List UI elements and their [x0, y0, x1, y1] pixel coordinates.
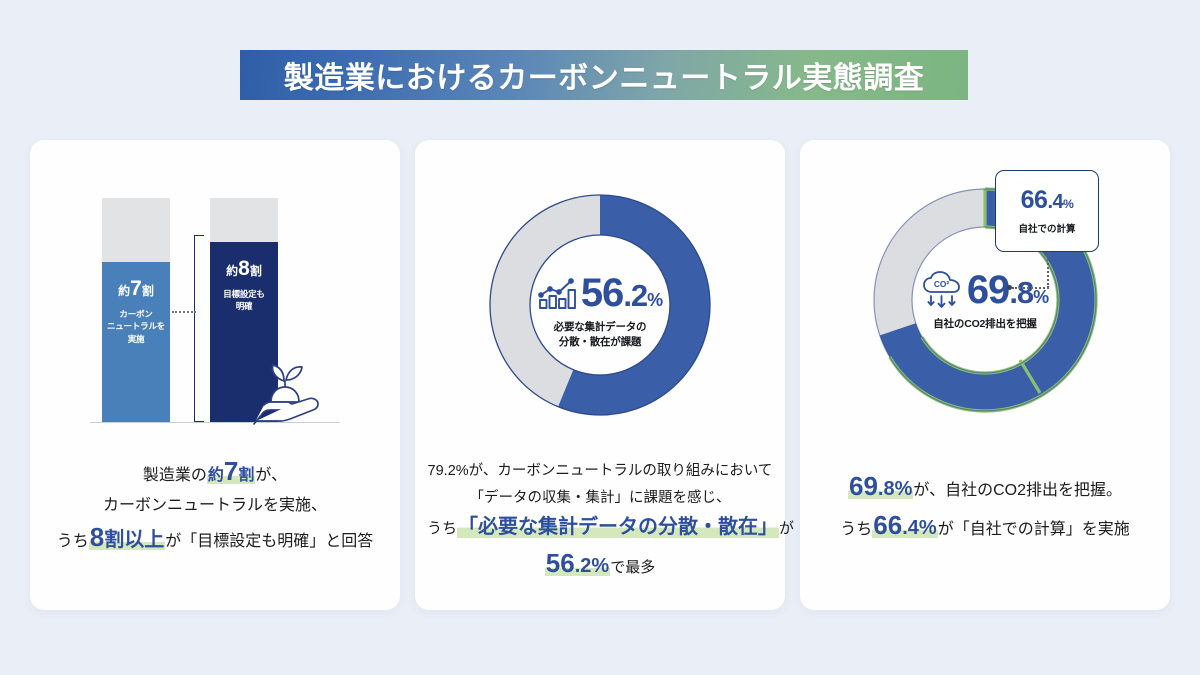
donut-value-698: 69.8%: [967, 270, 1048, 310]
callout-label: 自社での計算: [1018, 221, 1075, 235]
donut-chart-562: 56.2% 必要な集計データの分散・散在が課題: [415, 185, 785, 425]
bar-bracket: [194, 235, 204, 422]
page-title: 製造業におけるカーボンニュートラル実態調査: [284, 53, 925, 97]
donut-center-label-562: 必要な集計データの分散・散在が課題: [495, 320, 705, 350]
donut-center-698: CO² 69.8% 自社のCO2排出を把握: [880, 270, 1090, 332]
page-title-banner: 製造業におけるカーボンニュートラル実態調査: [240, 50, 968, 100]
bar-remainder-left: [102, 198, 170, 262]
donut-value-562: 56.2%: [581, 273, 662, 313]
callout-leader-dot: [1007, 285, 1012, 290]
bar-sublabel-right: 目標設定も明確: [223, 288, 265, 313]
bar-chart-trend-icon: [538, 276, 576, 310]
donut-center-562: 56.2% 必要な集計データの分散・散在が課題: [495, 273, 705, 350]
bar-value-left: 約7割: [118, 278, 154, 299]
donut-center-row: CO² 69.8%: [880, 270, 1090, 310]
card-donut-aggregation: 56.2% 必要な集計データの分散・散在が課題 79.2%が、カーボンニュートラ…: [415, 140, 785, 610]
hand-holding-sprout-icon: [240, 344, 332, 428]
callout-leader-horizontal: [1012, 287, 1049, 289]
donut-chart-698: CO² 69.8% 自社のCO2排出を把握 66.4% 自社での計算: [800, 175, 1170, 435]
title-gradient-band: 製造業におけるカーボンニュートラル実態調査: [240, 50, 968, 100]
card-carbon-neutral-bars: 約7割 カーボンニュートラルを実施 約8割 目標設定も明確: [30, 140, 400, 610]
caption-line: 79.2%が、カーボンニュートラルの取り組みにおいて: [427, 458, 773, 485]
caption-line: 製造業の約7割が、: [42, 458, 388, 491]
highlight-dispersed-data: 「必要な集計データの分散・散在」: [457, 516, 779, 538]
svg-text:CO²: CO²: [934, 279, 950, 289]
cards-row: 約7割 カーボンニュートラルを実施 約8割 目標設定も明確: [30, 140, 1170, 610]
caption-line: うち8割以上が「目標設定も明確」と回答: [42, 524, 388, 557]
card2-caption: 79.2%が、カーボンニュートラルの取り組みにおいて 「データの収集・集計」に課…: [427, 458, 773, 582]
caption-line: 「データの収集・集計」に課題を感じ、: [427, 485, 773, 512]
callout-self-calculation: 66.4% 自社での計算: [995, 170, 1099, 252]
donut-center-row: 56.2%: [495, 273, 705, 313]
highlight-over-80pct: 8割以上: [89, 533, 165, 550]
card-donut-co2: CO² 69.8% 自社のCO2排出を把握 66.4% 自社での計算: [800, 140, 1170, 610]
donut-center-label-698: 自社のCO2排出を把握: [880, 317, 1090, 332]
bar-chart: 約7割 カーボンニュートラルを実施 約8割 目標設定も明確: [30, 188, 400, 438]
caption-line: うち「必要な集計データの分散・散在」が: [427, 515, 773, 543]
callout-value: 66.4%: [1021, 188, 1074, 213]
highlight-approx-7: 約7割: [207, 467, 256, 484]
callout-leader-vertical: [1047, 252, 1049, 288]
co2-cloud-arrows-icon: CO²: [922, 271, 962, 309]
bar-fill-left: 約7割 カーボンニュートラルを実施: [102, 262, 170, 422]
bar-value-right: 約8割: [226, 258, 262, 279]
highlight-562: 56.2%: [545, 559, 610, 576]
caption-line: 56.2%で最多: [427, 550, 773, 582]
bar-column-left: 約7割 カーボンニュートラルを実施: [102, 198, 170, 422]
caption-line: カーボンニュートラルを実施、: [42, 491, 388, 521]
caption-line: 69.8%が、自社のCO2排出を把握。: [812, 473, 1158, 506]
bar-remainder-right: [210, 198, 278, 242]
bar-chart-stage: 約7割 カーボンニュートラルを実施 約8割 目標設定も明確: [90, 188, 340, 428]
bar-sublabel-left: カーボンニュートラルを実施: [107, 308, 165, 345]
highlight-698: 69.8%: [848, 482, 913, 499]
card3-caption: 69.8%が、自社のCO2排出を把握。 うち66.4%が「自社での計算」を実施: [812, 473, 1158, 544]
card1-caption: 製造業の約7割が、 カーボンニュートラルを実施、 うち8割以上が「目標設定も明確…: [42, 458, 388, 557]
highlight-664: 66.4%: [872, 521, 937, 538]
caption-line: うち66.4%が「自社での計算」を実施: [812, 512, 1158, 545]
bar-connector-dots: [172, 311, 196, 313]
